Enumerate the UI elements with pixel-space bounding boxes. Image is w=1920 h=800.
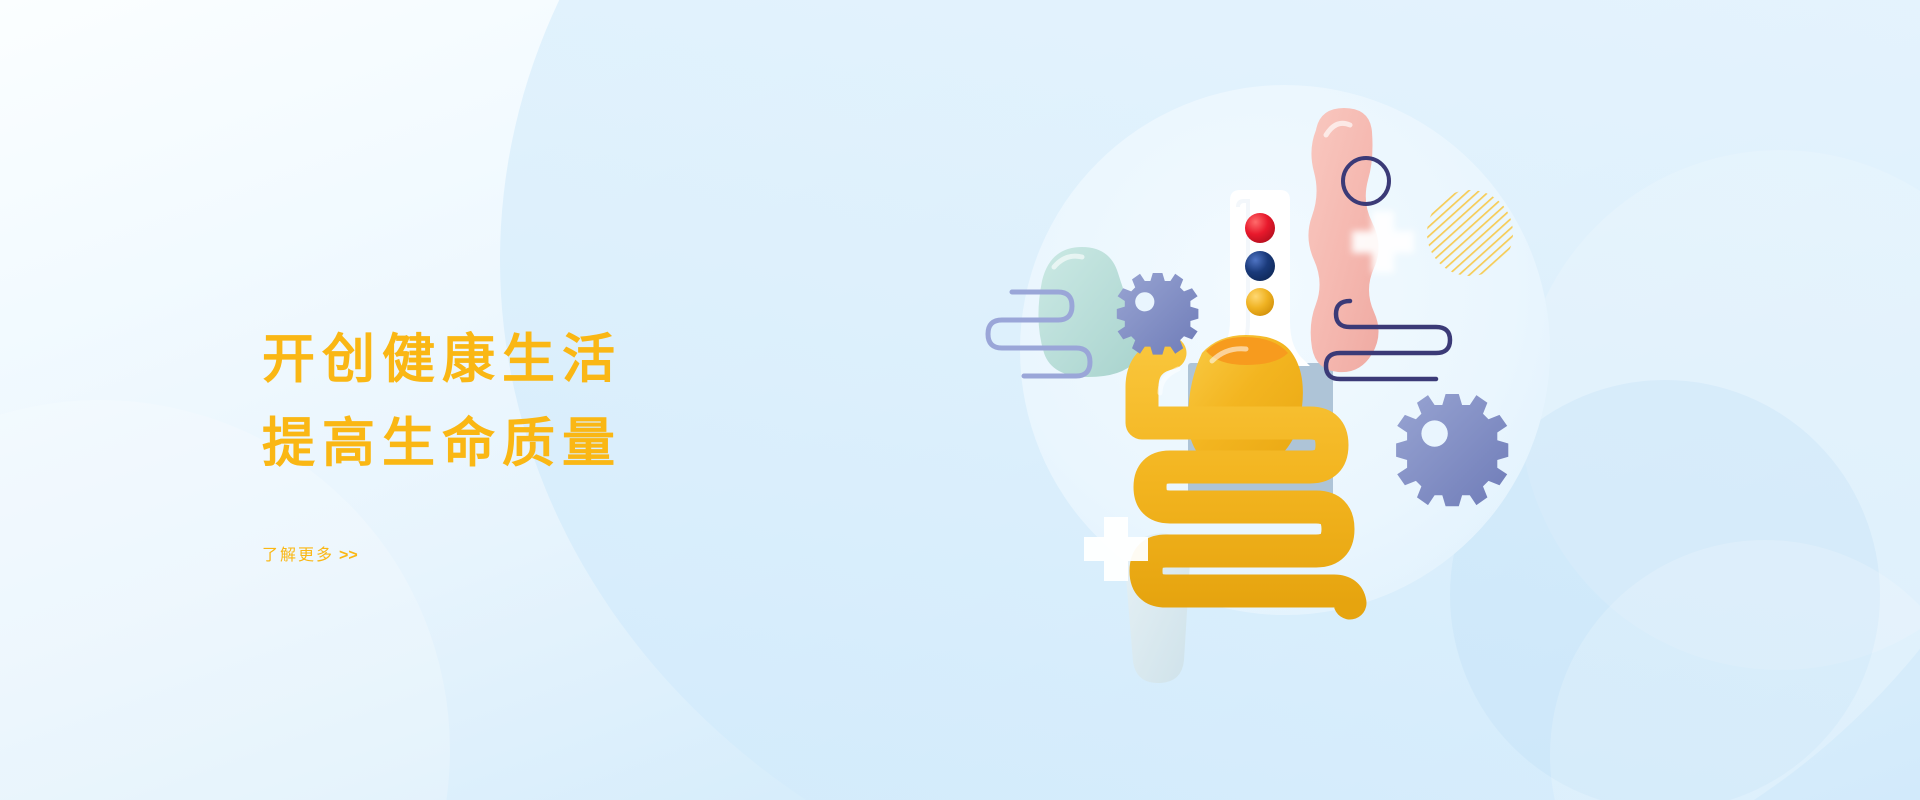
hero-banner: 开创健康生活 提高生命质量 了解更多>> (0, 0, 1920, 800)
headline-line-2: 提高生命质量 (262, 402, 882, 486)
hero-copy: 开创健康生活 提高生命质量 了解更多>> (262, 318, 882, 565)
pill-red (1245, 213, 1275, 243)
hatched-circle-icon (1427, 190, 1513, 276)
learn-more-link[interactable]: 了解更多>> (262, 541, 358, 565)
background-blob-right-upper (1520, 150, 1920, 670)
headline-line-1: 开创健康生活 (262, 318, 882, 402)
chevron-right-icon: >> (339, 547, 358, 564)
learn-more-label: 了解更多 (262, 547, 334, 564)
digestive-system-illustration (1020, 85, 1550, 705)
pill-yellow (1246, 288, 1274, 316)
pill-navy (1245, 251, 1275, 281)
background-blob-right-lower (1550, 540, 1920, 800)
